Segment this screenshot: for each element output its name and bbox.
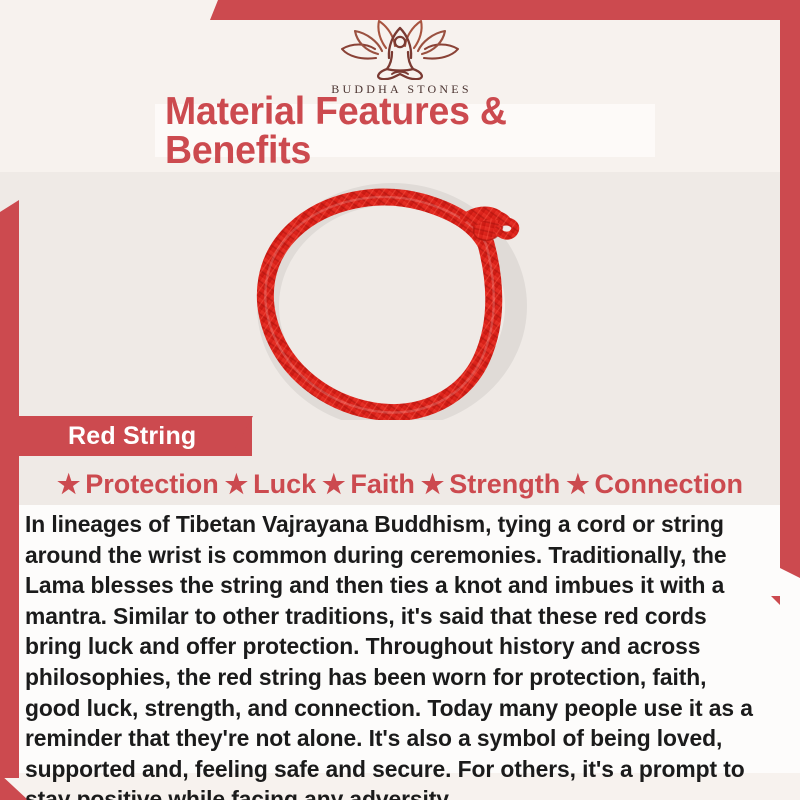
benefit-label: Luck bbox=[253, 471, 316, 498]
decorative-left-red-bar bbox=[0, 200, 19, 778]
star-icon: ★ bbox=[421, 471, 444, 497]
brand-logo: BUDDHA STONES bbox=[0, 18, 800, 97]
description-paragraph: In lineages of Tibetan Vajrayana Buddhis… bbox=[25, 509, 766, 800]
material-name: Red String bbox=[68, 421, 196, 451]
benefit-item-strength: ★ Strength bbox=[421, 471, 560, 498]
benefit-item-protection: ★ Protection bbox=[57, 471, 219, 498]
page-title-band: Material Features & Benefits bbox=[155, 104, 655, 157]
star-icon: ★ bbox=[322, 471, 345, 497]
benefit-label: Faith bbox=[350, 471, 415, 498]
benefit-item-connection: ★ Connection bbox=[566, 471, 743, 498]
star-icon: ★ bbox=[225, 471, 248, 497]
star-icon: ★ bbox=[566, 471, 589, 497]
red-braided-string-bracelet-image bbox=[250, 170, 550, 425]
decorative-top-red-bar bbox=[210, 0, 800, 20]
benefit-label: Strength bbox=[449, 471, 560, 498]
benefit-item-luck: ★ Luck bbox=[225, 471, 316, 498]
infographic-page: BUDDHA STONES Material Features & Benefi… bbox=[0, 0, 800, 800]
star-icon: ★ bbox=[57, 471, 80, 497]
lotus-meditation-figure-icon bbox=[0, 18, 800, 80]
benefit-item-faith: ★ Faith bbox=[322, 471, 415, 498]
product-image-area bbox=[19, 172, 781, 420]
benefits-row: ★ Protection ★ Luck ★ Faith ★ Strength ★… bbox=[19, 464, 781, 504]
page-title: Material Features & Benefits bbox=[165, 92, 645, 170]
benefit-label: Protection bbox=[85, 471, 219, 498]
benefit-label: Connection bbox=[595, 471, 744, 498]
